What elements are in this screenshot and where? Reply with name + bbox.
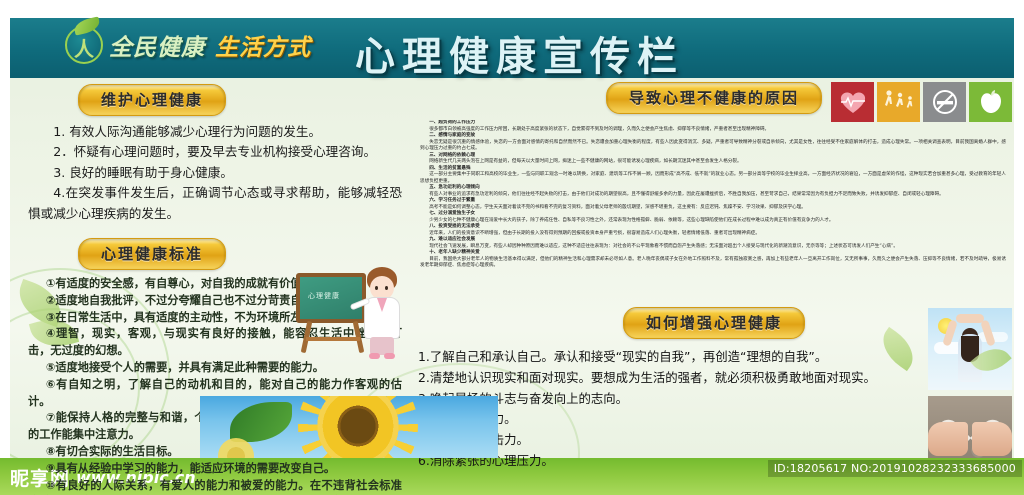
enhance-item: 3.唤起昂扬的斗志与奋发向上的志向。 — [418, 389, 1010, 410]
sunflower-photo — [200, 396, 498, 458]
enhance-item: 1.了解自己和承认自己。承认和接受“现实的自我”，再创造“理想的自我”。 — [418, 347, 1010, 368]
maintain-item: 1. 有效人际沟通能够减少心理行为问题的发生。 — [28, 122, 402, 142]
doctor-figure-icon — [360, 267, 406, 359]
cause-text: 目前，我国绝大部分老年人的物质生活基本得以满足，但他们的精神生活和心理需求却未必… — [420, 257, 1006, 270]
section-heading-enhance-wrap: 如何增强心理健康 — [414, 307, 1014, 339]
heart-ecg-icon — [831, 82, 874, 122]
poster-root: 全民健康 生活方式 心理健康宣传栏 — [0, 0, 1024, 495]
doctor-eye — [375, 286, 378, 290]
section-heading-enhance: 如何增强心理健康 — [623, 307, 805, 339]
health-person-leaf-logo-icon — [65, 26, 103, 64]
doctor-shoes — [369, 353, 395, 359]
enhance-item: 2.清楚地认识现实和面对现实。要想成为生活的强者，就必须积极勇敢地面对现实。 — [418, 368, 1010, 389]
section-heading-standard: 心理健康标准 — [78, 238, 226, 270]
blackboard-icon: 心理健康 — [296, 273, 366, 323]
page-title: 心理健康宣传栏 — [355, 24, 684, 82]
right-hand-shape — [972, 422, 1012, 456]
maintain-item: 4.在突发事件发生后，正确调节心态或寻求帮助，能够减轻恐惧或减少心理疾病的发生。 — [28, 183, 402, 224]
cause-text: 这一部分主要集中于同职工和高校的毕业生，一些与同职工观念一时难以转换，对家庭、建… — [420, 172, 1006, 185]
maintain-body: 1. 有效人际沟通能够减少心理行为问题的发生。 2．怀疑有心理问题时，要及早去专… — [28, 122, 402, 224]
brand-logo: 全民健康 生活方式 — [65, 26, 311, 64]
cause-text: 有些人对事业的追求有急功近利的倾向，他们往往经不起失败的打击，由于他们对成功的期… — [420, 192, 1006, 199]
logo-text-secondary: 生活方式 — [215, 28, 311, 62]
health-icon-strip — [831, 82, 1012, 122]
causes-body: 一、超负荷的工作压力 很多都市白领被高强度的工作压力所困，长期处于高度紧张的状态… — [420, 120, 1006, 305]
standard-item: ⑩有良好的人际关系，有爱人的能力和被爱的能力。在不违背社会标准的前提下，能保持自… — [28, 478, 402, 495]
easel-crossbar — [306, 337, 360, 341]
hands-holding-heart-photo — [928, 396, 1012, 458]
enhance-list: 1.了解自己和承认自己。承认和接受“现实的自我”，再创造“理想的自我”。 2.清… — [418, 347, 1010, 472]
no-smoking-icon — [923, 82, 966, 122]
figure-hands — [956, 314, 984, 323]
enhance-item: 5.增强心理攻击力。 — [418, 430, 1010, 451]
logo-text-primary: 全民健康 — [109, 28, 205, 62]
enhance-item: 6.消除紧张的心理压力。 — [418, 451, 1010, 472]
cause-text: 失恋无疑是很沉重的情感体验，失恋的一方会面对感情的寄托和自然而然不已。失恋遭会加… — [420, 140, 1006, 153]
right-column: 导致心理不健康的原因 一、超负荷的工作压力 很多都市白领被高强度的工作压力所困，… — [414, 78, 1014, 458]
leaf-shape — [230, 402, 292, 442]
section-heading-causes: 导致心理不健康的原因 — [606, 82, 822, 114]
enhance-item: 4.增强心理耐力。 — [418, 409, 1010, 430]
apple-icon — [969, 82, 1012, 122]
walking-people-icon — [877, 82, 920, 122]
doctor-eye — [385, 286, 388, 290]
section-heading-maintain: 维护心理健康 — [78, 84, 226, 116]
yoga-woman-photo — [928, 308, 1012, 390]
header-bar: 全民健康 生活方式 心理健康宣传栏 — [10, 18, 1014, 78]
left-hand-shape — [928, 422, 968, 456]
maintain-item: 3. 良好的睡眠有助于身心健康。 — [28, 163, 402, 183]
section-heading-maintain-wrap: 维护心理健康 — [78, 84, 402, 116]
sunflower-center — [310, 396, 406, 458]
maintain-item: 2．怀疑有心理问题时，要及早去专业机构接受心理咨询。 — [28, 142, 402, 162]
blackboard-text: 心理健康 — [308, 291, 356, 301]
doctor-blackboard-illustration: 心理健康 — [294, 263, 410, 363]
standard-item: ⑨具有从经验中学习的能力，能适应环境的需要改变自己。 — [28, 461, 402, 478]
figure-hair — [961, 336, 979, 362]
